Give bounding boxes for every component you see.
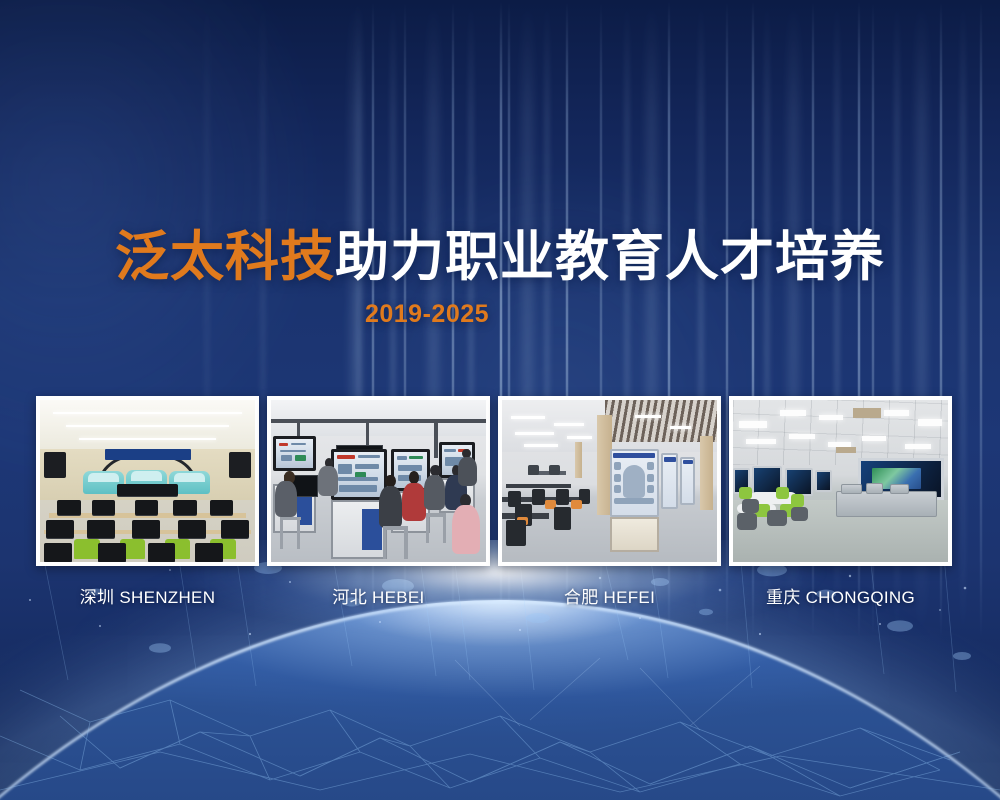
- photo-card-chongqing[interactable]: [729, 396, 952, 566]
- photo-captions: 深圳 SHENZHEN 河北 HEBEI 合肥 HEFEI 重庆 CHONGQI…: [36, 585, 964, 611]
- network-mesh-lines: [0, 540, 1000, 800]
- title-block: 泛太科技助力职业教育人才培养 2019-2025: [0, 226, 1000, 329]
- title-rest: 助力职业教育人才培养: [335, 227, 885, 287]
- caption-chongqing: 重庆 CHONGQING: [729, 585, 952, 611]
- year-range: 2019-2025: [0, 300, 1000, 329]
- page-title: 泛太科技助力职业教育人才培养: [0, 226, 1000, 288]
- photo-image-chongqing: [733, 400, 948, 562]
- caption-shenzhen: 深圳 SHENZHEN: [36, 585, 259, 611]
- photo-gallery: [36, 396, 964, 566]
- title-brand: 泛太科技: [115, 227, 335, 287]
- photo-image-hebei: [271, 400, 486, 562]
- caption-hebei: 河北 HEBEI: [267, 585, 490, 611]
- poster-canvas: 泛太科技助力职业教育人才培养 2019-2025: [0, 0, 1000, 800]
- photo-card-hebei[interactable]: [267, 396, 490, 566]
- photo-image-shenzhen: [40, 400, 255, 562]
- globe-horizon-graphic: [0, 540, 1000, 800]
- photo-card-hefei[interactable]: [498, 396, 721, 566]
- photo-image-hefei: [502, 400, 717, 562]
- caption-hefei: 合肥 HEFEI: [498, 585, 721, 611]
- photo-card-shenzhen[interactable]: [36, 396, 259, 566]
